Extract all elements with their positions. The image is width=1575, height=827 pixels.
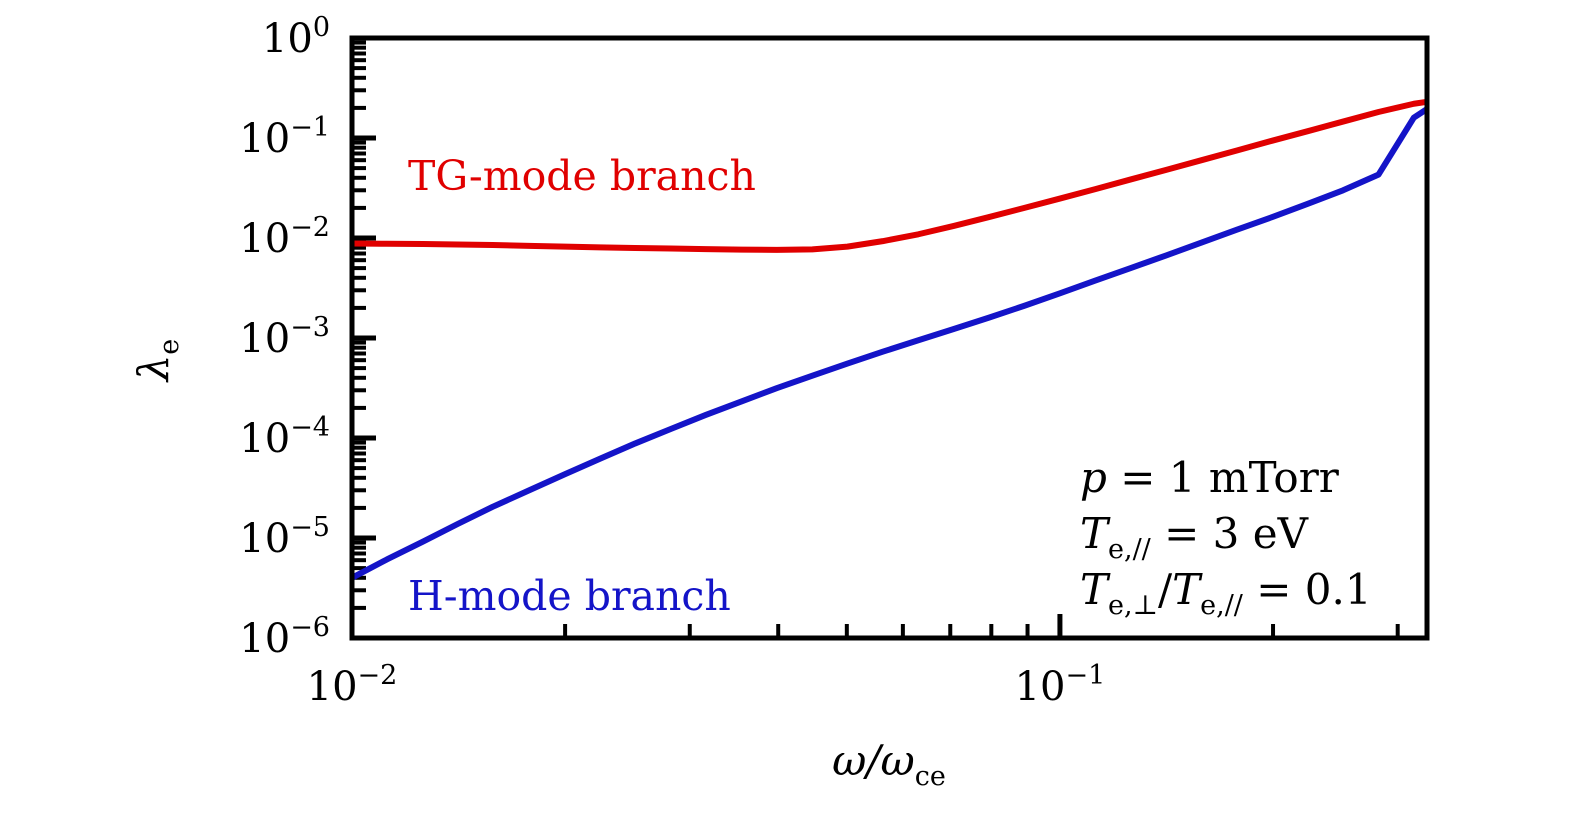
- curve-label-tg-mode: TG-mode branch: [408, 152, 756, 200]
- annotation-line-pressure: p = 1 mTorr: [1080, 453, 1340, 502]
- line-chart: 10010−110−210−310−410−510−6 10−210−1 λe …: [0, 0, 1575, 827]
- figure-container: 10010−110−210−310−410−510−6 10−210−1 λe …: [0, 0, 1575, 827]
- curve-label-h-mode: H-mode branch: [408, 572, 731, 620]
